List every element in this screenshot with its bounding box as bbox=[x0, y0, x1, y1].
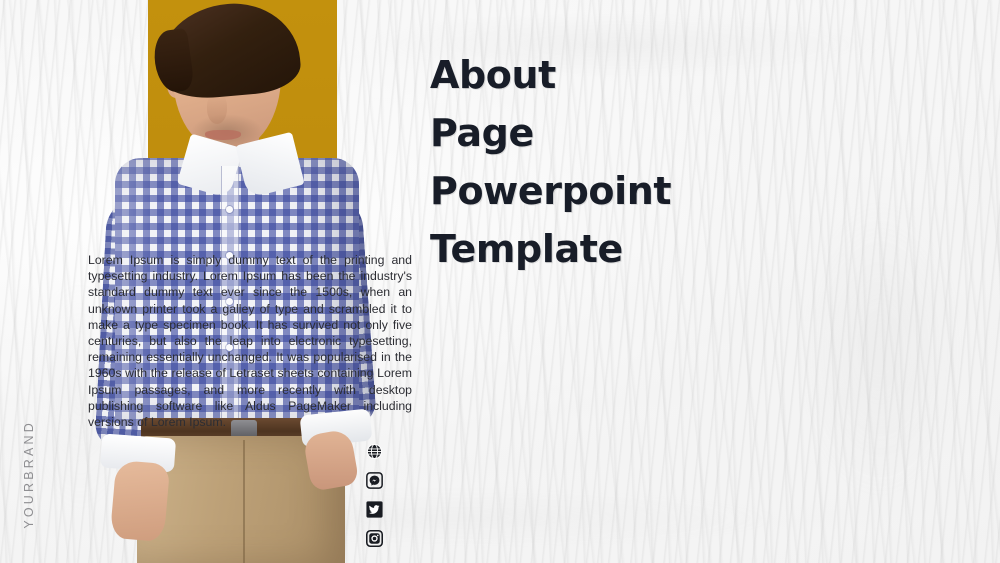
globe-icon[interactable] bbox=[366, 443, 383, 460]
instagram-icon[interactable] bbox=[366, 530, 383, 547]
headline-line-1: About bbox=[430, 46, 842, 104]
page-title: About Page Powerpoint Template bbox=[430, 46, 842, 278]
social-icon-list bbox=[366, 443, 383, 547]
model-hand-left bbox=[110, 460, 171, 542]
twitter-icon[interactable] bbox=[366, 501, 383, 518]
model-trouser-seam bbox=[243, 440, 245, 563]
model-nose bbox=[207, 94, 227, 124]
slide-root: YOURBRAND bbox=[0, 0, 1000, 563]
brand-label: YOURBRAND bbox=[22, 420, 36, 529]
content-column: About Page Powerpoint Template bbox=[430, 46, 842, 278]
body-paragraph: Lorem Ipsum is simply dummy text of the … bbox=[88, 252, 412, 430]
model-shirt-button bbox=[226, 206, 233, 213]
headline-line-4: Template bbox=[430, 220, 842, 278]
messenger-icon[interactable] bbox=[366, 472, 383, 489]
headline-line-2: Page bbox=[430, 104, 842, 162]
headline-line-3: Powerpoint bbox=[430, 162, 842, 220]
